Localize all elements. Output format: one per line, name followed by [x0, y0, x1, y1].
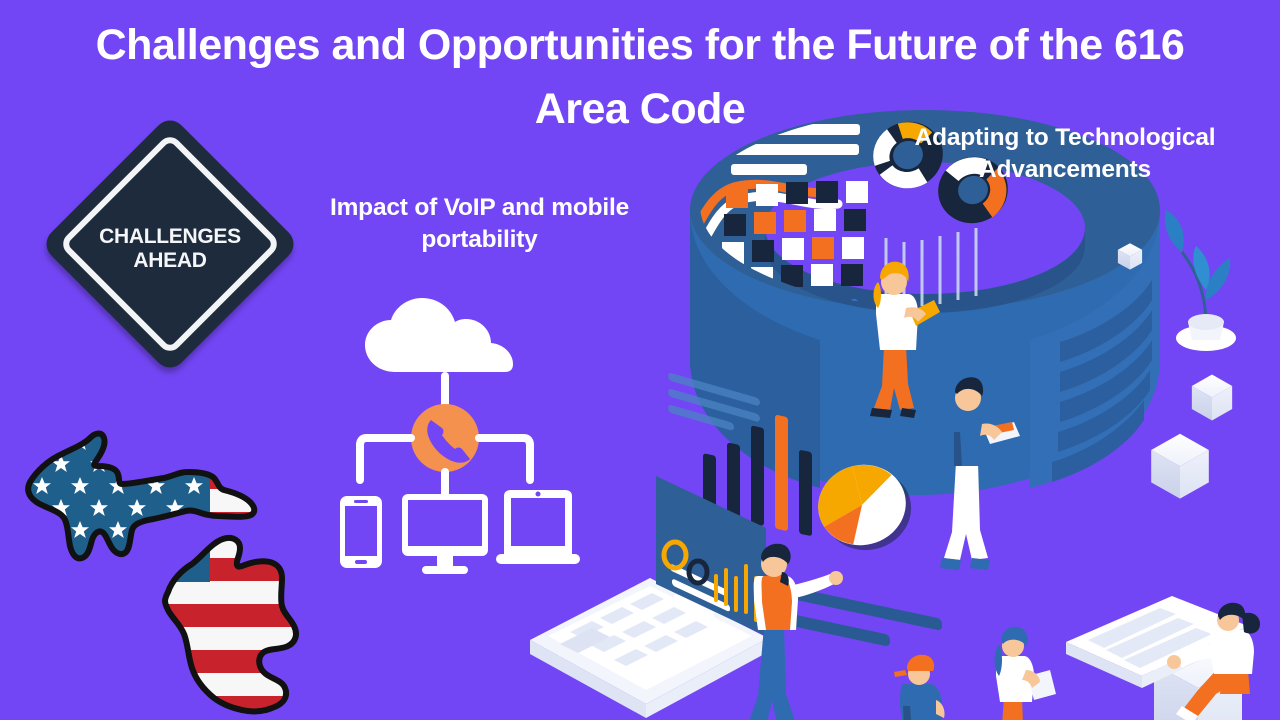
white-cube-large	[1151, 434, 1209, 499]
person-man-orange-cap	[892, 655, 945, 720]
challenges-ahead-road-sign: CHALLENGES AHEAD	[47, 121, 293, 367]
desktop-monitor-icon	[402, 494, 488, 574]
poster-canvas: CHALLENGES AHEAD Challenges and Opportun…	[0, 0, 1280, 720]
page-title-line-1: Challenges and Opportunities for the Fut…	[96, 21, 1029, 69]
voip-network-diagram	[332, 292, 592, 580]
michigan-lower-peninsula	[165, 538, 296, 712]
cloud-icon	[365, 298, 513, 372]
phone-handset-icon	[411, 404, 479, 472]
road-sign-text: CHALLENGES AHEAD	[47, 225, 293, 274]
person-woman-blue-hair	[988, 627, 1056, 720]
subhead-voip-impact: Impact of VoIP and mobile portability	[287, 192, 672, 257]
white-cube-mid	[1192, 374, 1232, 420]
laptop-icon	[496, 490, 580, 564]
road-sign-line-1: CHALLENGES	[99, 225, 241, 248]
keyboard-panel-and-seated-woman	[1066, 596, 1260, 720]
road-sign-line-2: AHEAD	[133, 249, 206, 272]
michigan-flag-maps	[18, 420, 328, 720]
smartphone-icon	[340, 496, 382, 568]
potted-plant	[1165, 210, 1236, 351]
subhead-technological-advancements: Adapting to Technological Advancements	[860, 122, 1270, 187]
